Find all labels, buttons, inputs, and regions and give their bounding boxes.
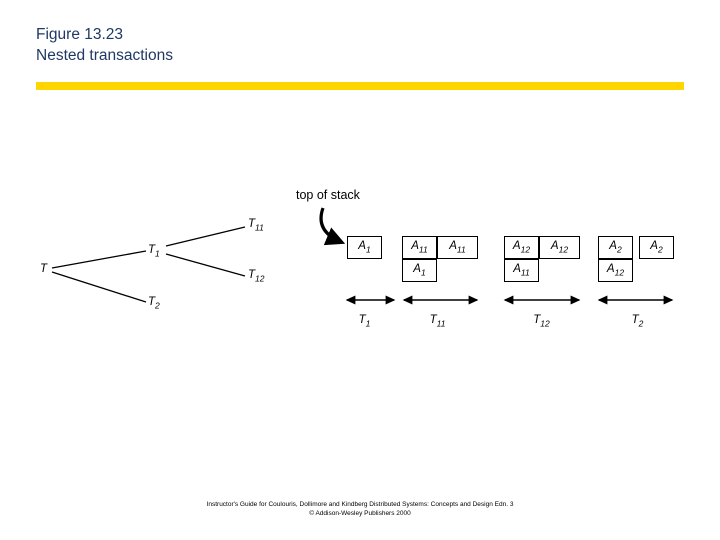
tree-node-t11-sub: 11	[255, 222, 264, 232]
stack-2-cell-0-sub: 11	[419, 245, 428, 255]
stack-1-cell-0: A1	[347, 236, 382, 259]
tree-node-t11-base: T	[248, 218, 255, 230]
stack-4-cell-0-base: A	[609, 240, 617, 252]
tree-node-t12-sub: 12	[255, 273, 264, 283]
stack-2-cell-1-sub: 1	[421, 268, 426, 278]
stack-3-cell-2: A12	[539, 236, 580, 259]
stack-4-cell-1: A12	[598, 259, 633, 282]
tree-node-t1-base: T	[148, 244, 155, 256]
stack-4-label: T2	[605, 314, 670, 328]
stack-4-cell-2: A2	[639, 236, 674, 259]
slide-canvas: Figure 13.23 Nested transactions top of …	[0, 0, 720, 540]
slide-footer: Instructor's Guide for Coulouris, Dollim…	[0, 500, 720, 518]
stack-1-label: T1	[332, 314, 397, 328]
top-of-stack-pointer	[321, 208, 341, 242]
stack-2-label-base: T	[430, 314, 437, 326]
stack-3-cell-0: A12	[504, 236, 539, 259]
tree-node-t2: T2	[148, 296, 160, 310]
stack-4-cell-1-sub: 12	[615, 268, 624, 278]
stack-4-cell-2-base: A	[650, 240, 658, 252]
stack-4-label-base: T	[632, 314, 639, 326]
tree-node-t1-sub: 1	[155, 248, 160, 258]
stack-1-cell-0-base: A	[358, 240, 366, 252]
stack-3-label: T12	[509, 314, 574, 328]
page-title: Figure 13.23 Nested transactions	[36, 24, 656, 66]
stack-3-cell-0-base: A	[513, 240, 521, 252]
tree-node-t12-base: T	[248, 269, 255, 281]
stack-4-cell-2-sub: 2	[658, 245, 663, 255]
stack-4-cell-0-sub: 2	[617, 245, 622, 255]
stack-1-cell-0-sub: 1	[366, 245, 371, 255]
stack-2-cell-2: A11	[437, 236, 478, 259]
tree-node-t2-base: T	[148, 296, 155, 308]
stack-2-cell-1-base: A	[413, 263, 421, 275]
tree-node-t1: T1	[148, 244, 160, 258]
stack-2-cell-0-base: A	[411, 240, 419, 252]
top-of-stack-label: top of stack	[296, 188, 360, 202]
stack-2-cell-2-sub: 11	[457, 245, 466, 255]
stack-2-cell-1: A1	[402, 259, 437, 282]
tree-node-t2-sub: 2	[155, 300, 160, 310]
stack-2-cell-0: A11	[402, 236, 437, 259]
stack-3-cell-0-sub: 12	[521, 245, 530, 255]
stack-3-cell-1-sub: 11	[521, 268, 530, 278]
stack-4-cell-1-base: A	[607, 263, 615, 275]
stack-2-label: T11	[405, 314, 470, 328]
stack-3-cell-2-sub: 12	[559, 245, 568, 255]
stack-1-label-sub: 1	[366, 318, 371, 328]
title-divider	[36, 82, 684, 90]
tree-node-t12: T12	[248, 269, 265, 283]
stack-4-label-sub: 2	[639, 318, 644, 328]
tree-node-t11: T11	[248, 218, 264, 232]
stack-3-cell-2-base: A	[551, 240, 559, 252]
stack-1-label-base: T	[359, 314, 366, 326]
stack-3-cell-1: A11	[504, 259, 539, 282]
stack-4-cell-0: A2	[598, 236, 633, 259]
stack-3-label-sub: 12	[540, 318, 549, 328]
tree-edges	[52, 227, 245, 302]
tree-node-root-base: T	[40, 263, 47, 275]
stack-2-cell-2-base: A	[449, 240, 457, 252]
stack-3-cell-1-base: A	[513, 263, 521, 275]
stack-2-label-sub: 11	[437, 318, 446, 328]
tree-node-root: T	[40, 263, 47, 277]
